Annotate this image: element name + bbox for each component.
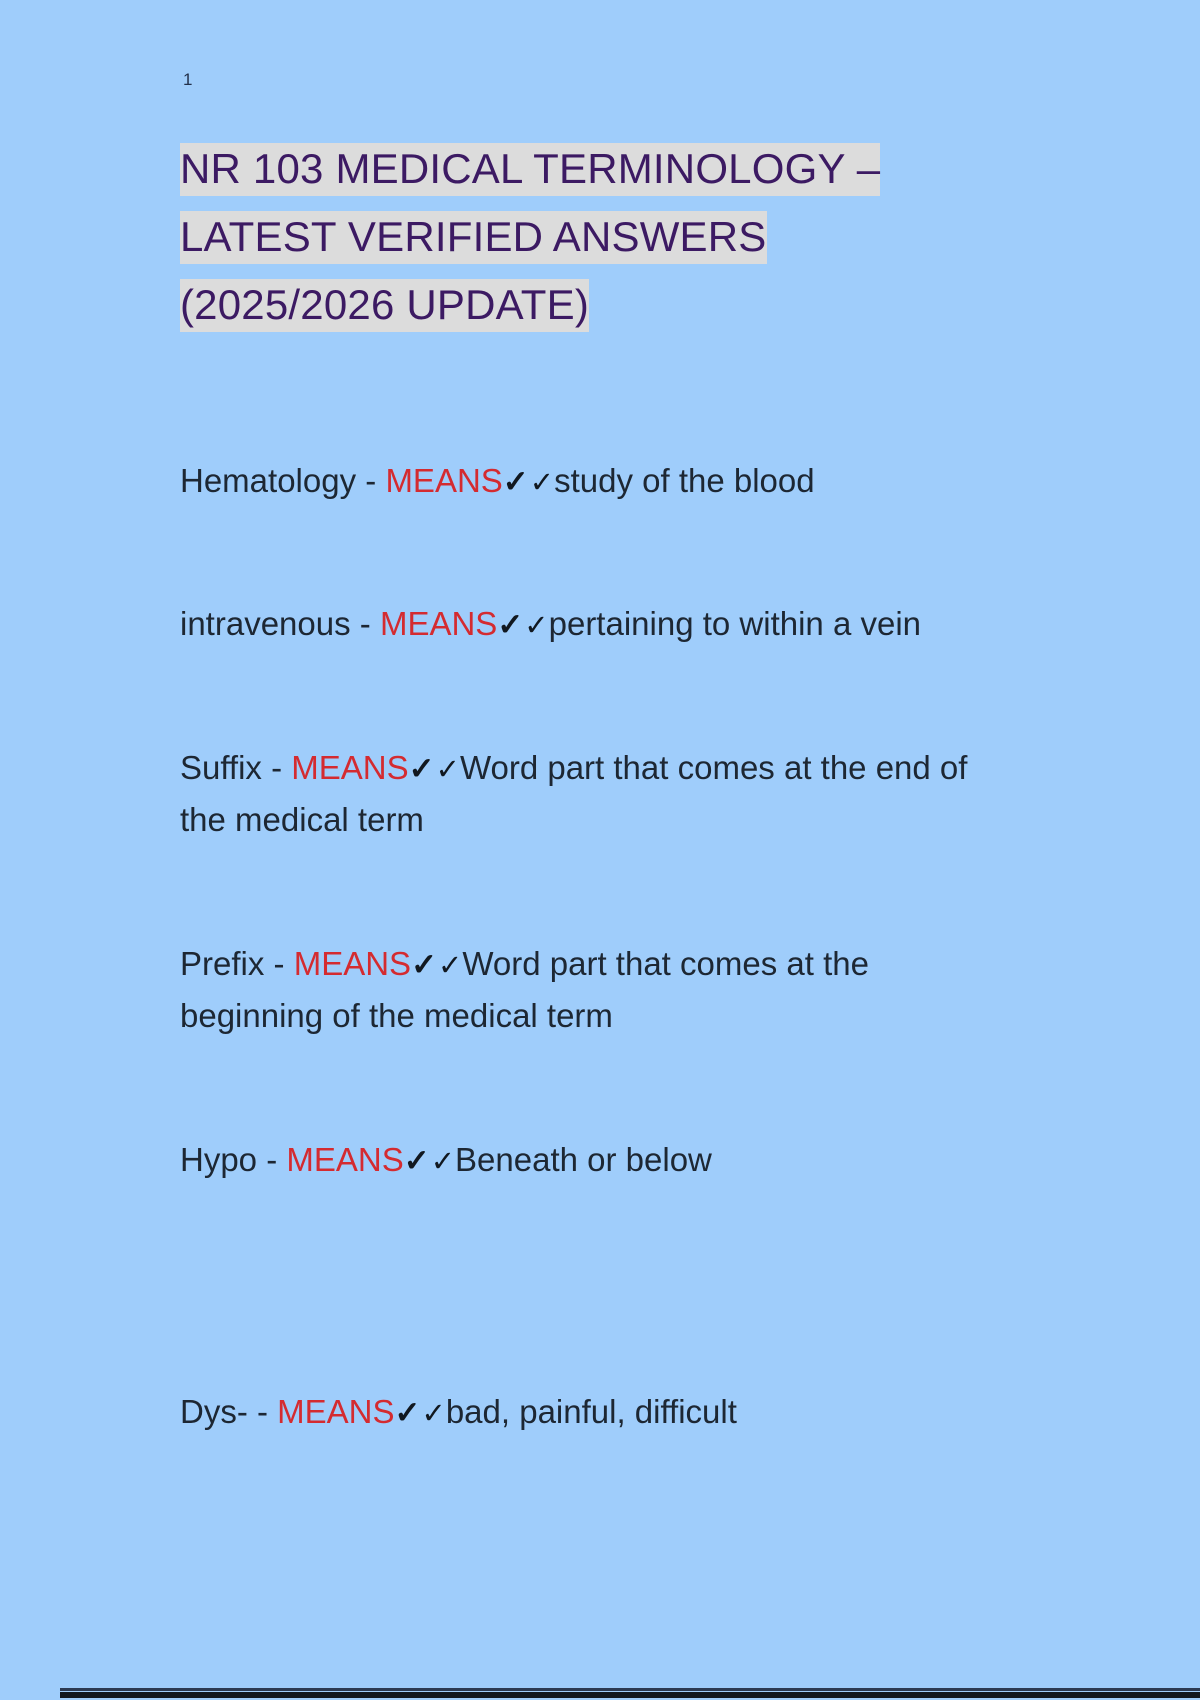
check-mark-icon: ✓ (524, 610, 547, 642)
term-entry: Hematology - MEANS✓✓study of the blood (180, 455, 1020, 507)
page-title-line-3: (2025/2026 UPDATE) (180, 279, 589, 332)
page-title: NR 103 MEDICAL TERMINOLOGY – LATEST VERI… (180, 135, 1010, 339)
page-title-line-2: LATEST VERIFIED ANSWERS (180, 211, 767, 264)
check-mark-icon: ✓ (436, 754, 459, 786)
term-entry: Hypo - MEANS✓✓Beneath or below (180, 1134, 1020, 1186)
term-label: Suffix (180, 749, 262, 786)
term-separator: - (365, 462, 376, 499)
term-separator: - (274, 945, 285, 982)
check-mark-icon: ✓ (395, 1395, 420, 1430)
check-mark-icon: ✓ (503, 464, 528, 499)
term-label: Hematology (180, 462, 356, 499)
means-label: MEANS (291, 749, 408, 786)
means-label: MEANS (277, 1393, 394, 1430)
term-separator: - (257, 1393, 268, 1430)
check-mark-icon: ✓ (530, 467, 553, 499)
term-entry: Suffix - MEANS✓✓Word part that comes at … (180, 742, 1020, 847)
check-mark-icon: ✓ (422, 1398, 445, 1430)
document-page: 1 NR 103 MEDICAL TERMINOLOGY – LATEST VE… (0, 0, 1200, 1700)
term-definition-list: Hematology - MEANS✓✓study of the blood i… (180, 455, 1020, 1439)
term-entry: intravenous - MEANS✓✓pertaining to withi… (180, 598, 1020, 650)
definition-text: pertaining to within a vein (549, 605, 921, 642)
means-label: MEANS (286, 1141, 403, 1178)
page-footer-divider-thin (60, 1688, 1200, 1691)
term-entry: Dys- - MEANS✓✓bad, painful, difficult (180, 1386, 1020, 1438)
term-label: intravenous (180, 605, 351, 642)
check-mark-icon: ✓ (404, 1143, 429, 1178)
means-label: MEANS (385, 462, 502, 499)
definition-text: study of the blood (554, 462, 815, 499)
term-label: Prefix (180, 945, 264, 982)
check-mark-icon: ✓ (438, 950, 461, 982)
page-footer-divider (60, 1692, 1200, 1698)
means-label: MEANS (294, 945, 411, 982)
definition-text: Beneath or below (455, 1141, 712, 1178)
check-mark-icon: ✓ (411, 947, 436, 982)
term-separator: - (360, 605, 371, 642)
term-label: Dys- (180, 1393, 248, 1430)
check-mark-icon: ✓ (409, 751, 434, 786)
term-label: Hypo (180, 1141, 257, 1178)
definition-text: bad, painful, difficult (446, 1393, 737, 1430)
term-separator: - (271, 749, 282, 786)
means-label: MEANS (380, 605, 497, 642)
check-mark-icon: ✓ (431, 1146, 454, 1178)
page-number: 1 (183, 70, 193, 90)
term-separator: - (266, 1141, 277, 1178)
page-title-line-1: NR 103 MEDICAL TERMINOLOGY – (180, 143, 880, 196)
check-mark-icon: ✓ (497, 607, 522, 642)
term-entry: Prefix - MEANS✓✓Word part that comes at … (180, 938, 1020, 1043)
